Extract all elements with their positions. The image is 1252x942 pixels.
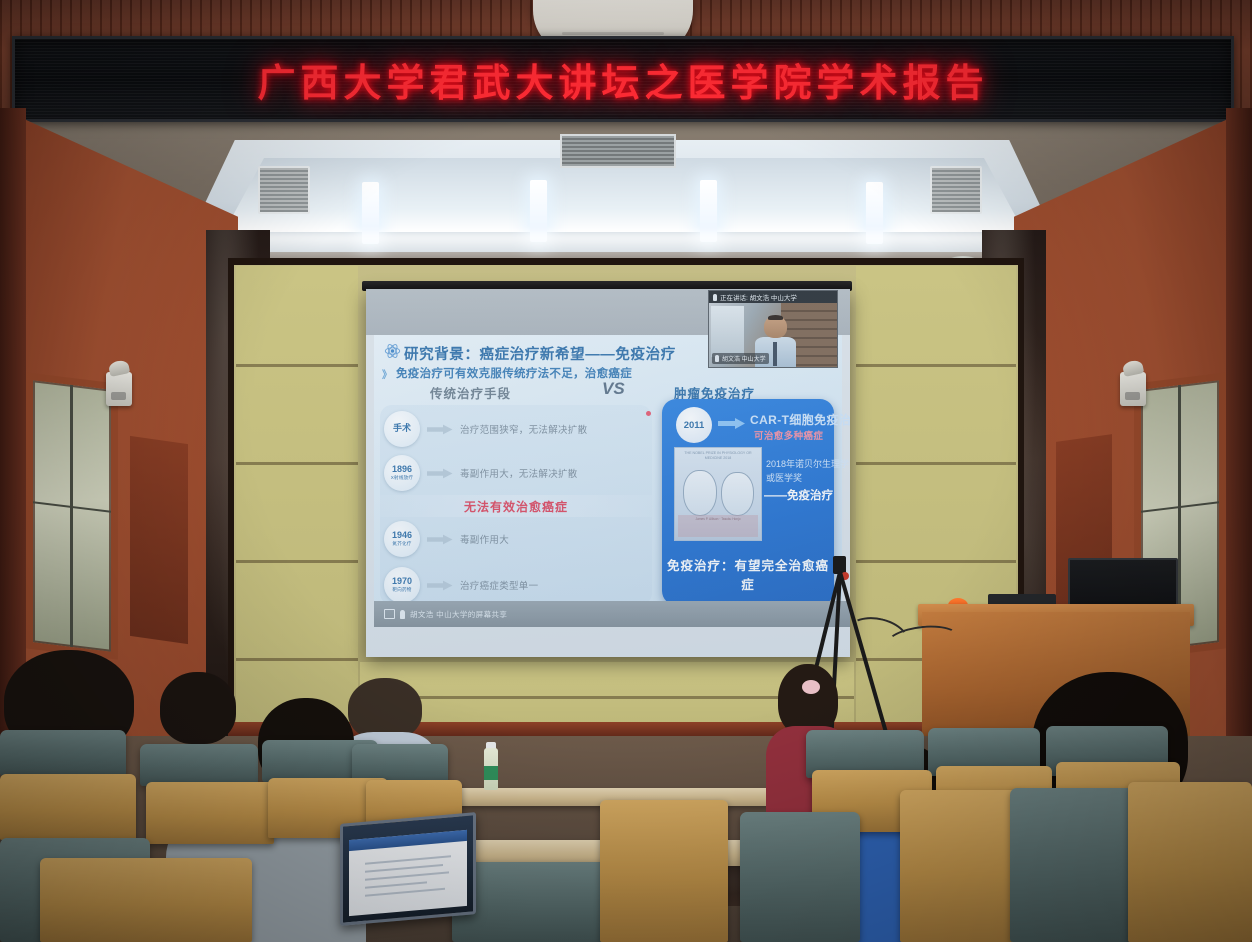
nobel-laureate-face-1: [683, 470, 717, 516]
wall-speaker-right: [1120, 372, 1146, 406]
timeline-desc-2: 毒副作用大: [460, 532, 509, 546]
timeline-row-2: 1946 氮芥化疗 毒副作用大: [384, 521, 509, 557]
nobel-footer: James P. Allison · Tasuku Honjo: [678, 515, 758, 537]
atom-molecule-icon: [384, 343, 401, 359]
lecture-hall-photo: 广西大学君武大讲坛之医学院学术报告: [0, 0, 1252, 942]
panel-frame-top: [228, 258, 1024, 265]
microphone-icon: [715, 355, 719, 362]
timeline-row-1: 1896 X射线放疗 毒副作用大，无法解决扩散: [384, 455, 578, 491]
hair-clip: [802, 680, 820, 694]
cart-subtitle: 可治愈多种癌症: [754, 428, 823, 442]
card-year: 2011: [684, 420, 705, 431]
screenshare-bottom-bar: 胡文浩 中山大学的屏幕共享: [374, 601, 850, 627]
seat-front-8[interactable]: [1128, 782, 1252, 942]
timeline-circle-3: 1970 靶向药物: [384, 567, 420, 603]
red-dot-marker: [646, 411, 651, 416]
screen-share-icon: [384, 609, 395, 619]
timeline-year-3: 1970: [392, 577, 412, 586]
ceiling-coffer-inner: [224, 158, 1024, 232]
slide-title: 研究背景：癌症治疗新希望——免疫治疗: [404, 343, 676, 364]
projection-screen: 研究背景：癌症治疗新希望——免疫治疗 》 免疫治疗可有效克服传统疗法不足，治愈癌…: [366, 289, 850, 657]
video-feed: 胡文浩 中山大学: [709, 303, 837, 367]
person-head: [160, 672, 236, 744]
award-line-2: 或医学奖: [766, 471, 802, 484]
award-line-1: 2018年诺贝尔生理学: [766, 457, 849, 470]
speaker-name: 胡文浩 中山大学: [722, 354, 766, 363]
nobel-laureate-face-2: [721, 472, 754, 516]
verdict-band: 无法有效治愈癌症: [380, 495, 652, 517]
timeline-sub-2: 氮芥化疗: [392, 542, 411, 547]
nobel-caption: THE NOBEL PRIZE IN PHYSIOLOGY OR MEDICIN…: [679, 451, 757, 463]
seat-mid-1[interactable]: [0, 774, 136, 840]
column-header-traditional: 传统治疗手段: [430, 383, 511, 402]
timeline-desc-1: 毒副作用大，无法解决扩散: [460, 466, 578, 480]
speaker-hair: [768, 315, 783, 320]
ceiling-air-vent-left: [258, 166, 310, 214]
timeline-desc-3: 治疗癌症类型单一: [460, 578, 538, 592]
arrow-icon-0: [427, 424, 453, 435]
seat-back-2[interactable]: [140, 744, 258, 786]
speaker-video-window[interactable]: 正在讲话: 胡文浩 中山大学 胡文浩 中山大学: [708, 290, 838, 368]
laptop-app-ribbon: [349, 830, 467, 851]
award-line-3: ——免疫治疗: [764, 487, 833, 503]
timeline-year-0: 手术: [393, 424, 411, 433]
immunotherapy-card: 2011 CAR-T细胞免疫治疗 可治愈多种癌症 THE NOBEL PRIZE…: [662, 399, 834, 605]
timeline-sub-1: X射线放疗: [391, 476, 413, 481]
timeline-desc-0: 治疗范围狭窄，无法解决扩散: [460, 422, 587, 436]
timeline-row-3: 1970 靶向药物 治疗癌症类型单一: [384, 567, 538, 603]
video-name-badge: 胡文浩 中山大学: [712, 353, 769, 364]
audience-person-2: [160, 672, 236, 752]
led-banner-text: 广西大学君武大讲坛之医学院学术报告: [257, 52, 988, 107]
wall-edge-right: [1226, 108, 1252, 758]
wall-speaker-left: [106, 372, 132, 406]
presentation-slide: 研究背景：癌症治疗新希望——免疫治疗 》 免疫治疗可有效克服传统疗法不足，治愈癌…: [374, 335, 842, 627]
timeline-circle-0: 手术: [384, 411, 420, 447]
timeline-year-2: 1946: [392, 531, 412, 540]
seat-mid-2[interactable]: [146, 782, 274, 844]
timeline-circle-1: 1896 X射线放疗: [384, 455, 420, 491]
seat-front-7[interactable]: [1010, 788, 1140, 942]
microphone-icon: [400, 610, 405, 619]
timeline-year-1: 1896: [392, 465, 412, 474]
window-left: [26, 372, 118, 659]
acoustic-panel-left: [236, 266, 358, 730]
timeline-circle-2: 1946 氮芥化疗: [384, 521, 420, 557]
door-left[interactable]: [130, 436, 188, 644]
bottle-label: [484, 766, 498, 780]
card-arrow-icon: [718, 417, 746, 430]
speaker-head: [764, 316, 787, 339]
seat-back-1[interactable]: [0, 730, 126, 776]
arrow-icon-1: [427, 468, 453, 479]
ceiling-vent-grille-top: [560, 134, 676, 168]
timeline-row-0: 手术 治疗范围狭窄，无法解决扩散: [384, 411, 587, 447]
person-head: [348, 678, 422, 740]
ceiling-air-vent-right: [930, 166, 982, 214]
card-verdict: 免疫治疗：有望完全治愈癌症: [662, 555, 834, 593]
card-year-circle: 2011: [676, 407, 712, 443]
speaking-label: 正在讲话: 胡文浩 中山大学: [720, 292, 797, 302]
laptop-screen: [349, 830, 467, 916]
seat-front-5[interactable]: [740, 812, 860, 942]
microphone-icon: [713, 294, 717, 301]
audience-laptop[interactable]: [340, 812, 476, 926]
panel-frame-left: [228, 258, 234, 736]
timeline-sub-3: 靶向药物: [392, 588, 411, 593]
screenshare-label: 胡文浩 中山大学的屏幕共享: [410, 609, 507, 620]
video-window-titlebar: 正在讲话: 胡文浩 中山大学: [709, 291, 838, 303]
verdict-text: 无法有效治愈癌症: [464, 498, 568, 515]
seat-front-6[interactable]: [900, 790, 1026, 942]
slide-subtitle: 免疫治疗可有效克服传统疗法不足，治愈癌症: [396, 365, 632, 381]
seat-front-2[interactable]: [40, 858, 252, 942]
arrow-icon-2: [427, 534, 453, 545]
seat-front-4[interactable]: [600, 800, 728, 942]
vs-label: VS: [602, 379, 625, 399]
video-background-window: [711, 306, 744, 357]
led-banner: 广西大学君武大讲坛之医学院学术报告: [12, 36, 1234, 122]
cart-title: CAR-T细胞免疫治疗: [750, 411, 850, 428]
arrow-icon-3: [427, 580, 453, 591]
nobel-prize-image: THE NOBEL PRIZE IN PHYSIOLOGY OR MEDICIN…: [674, 447, 762, 541]
speaker-tie: [773, 342, 777, 366]
subtitle-chevron-icon: 》: [382, 366, 392, 381]
